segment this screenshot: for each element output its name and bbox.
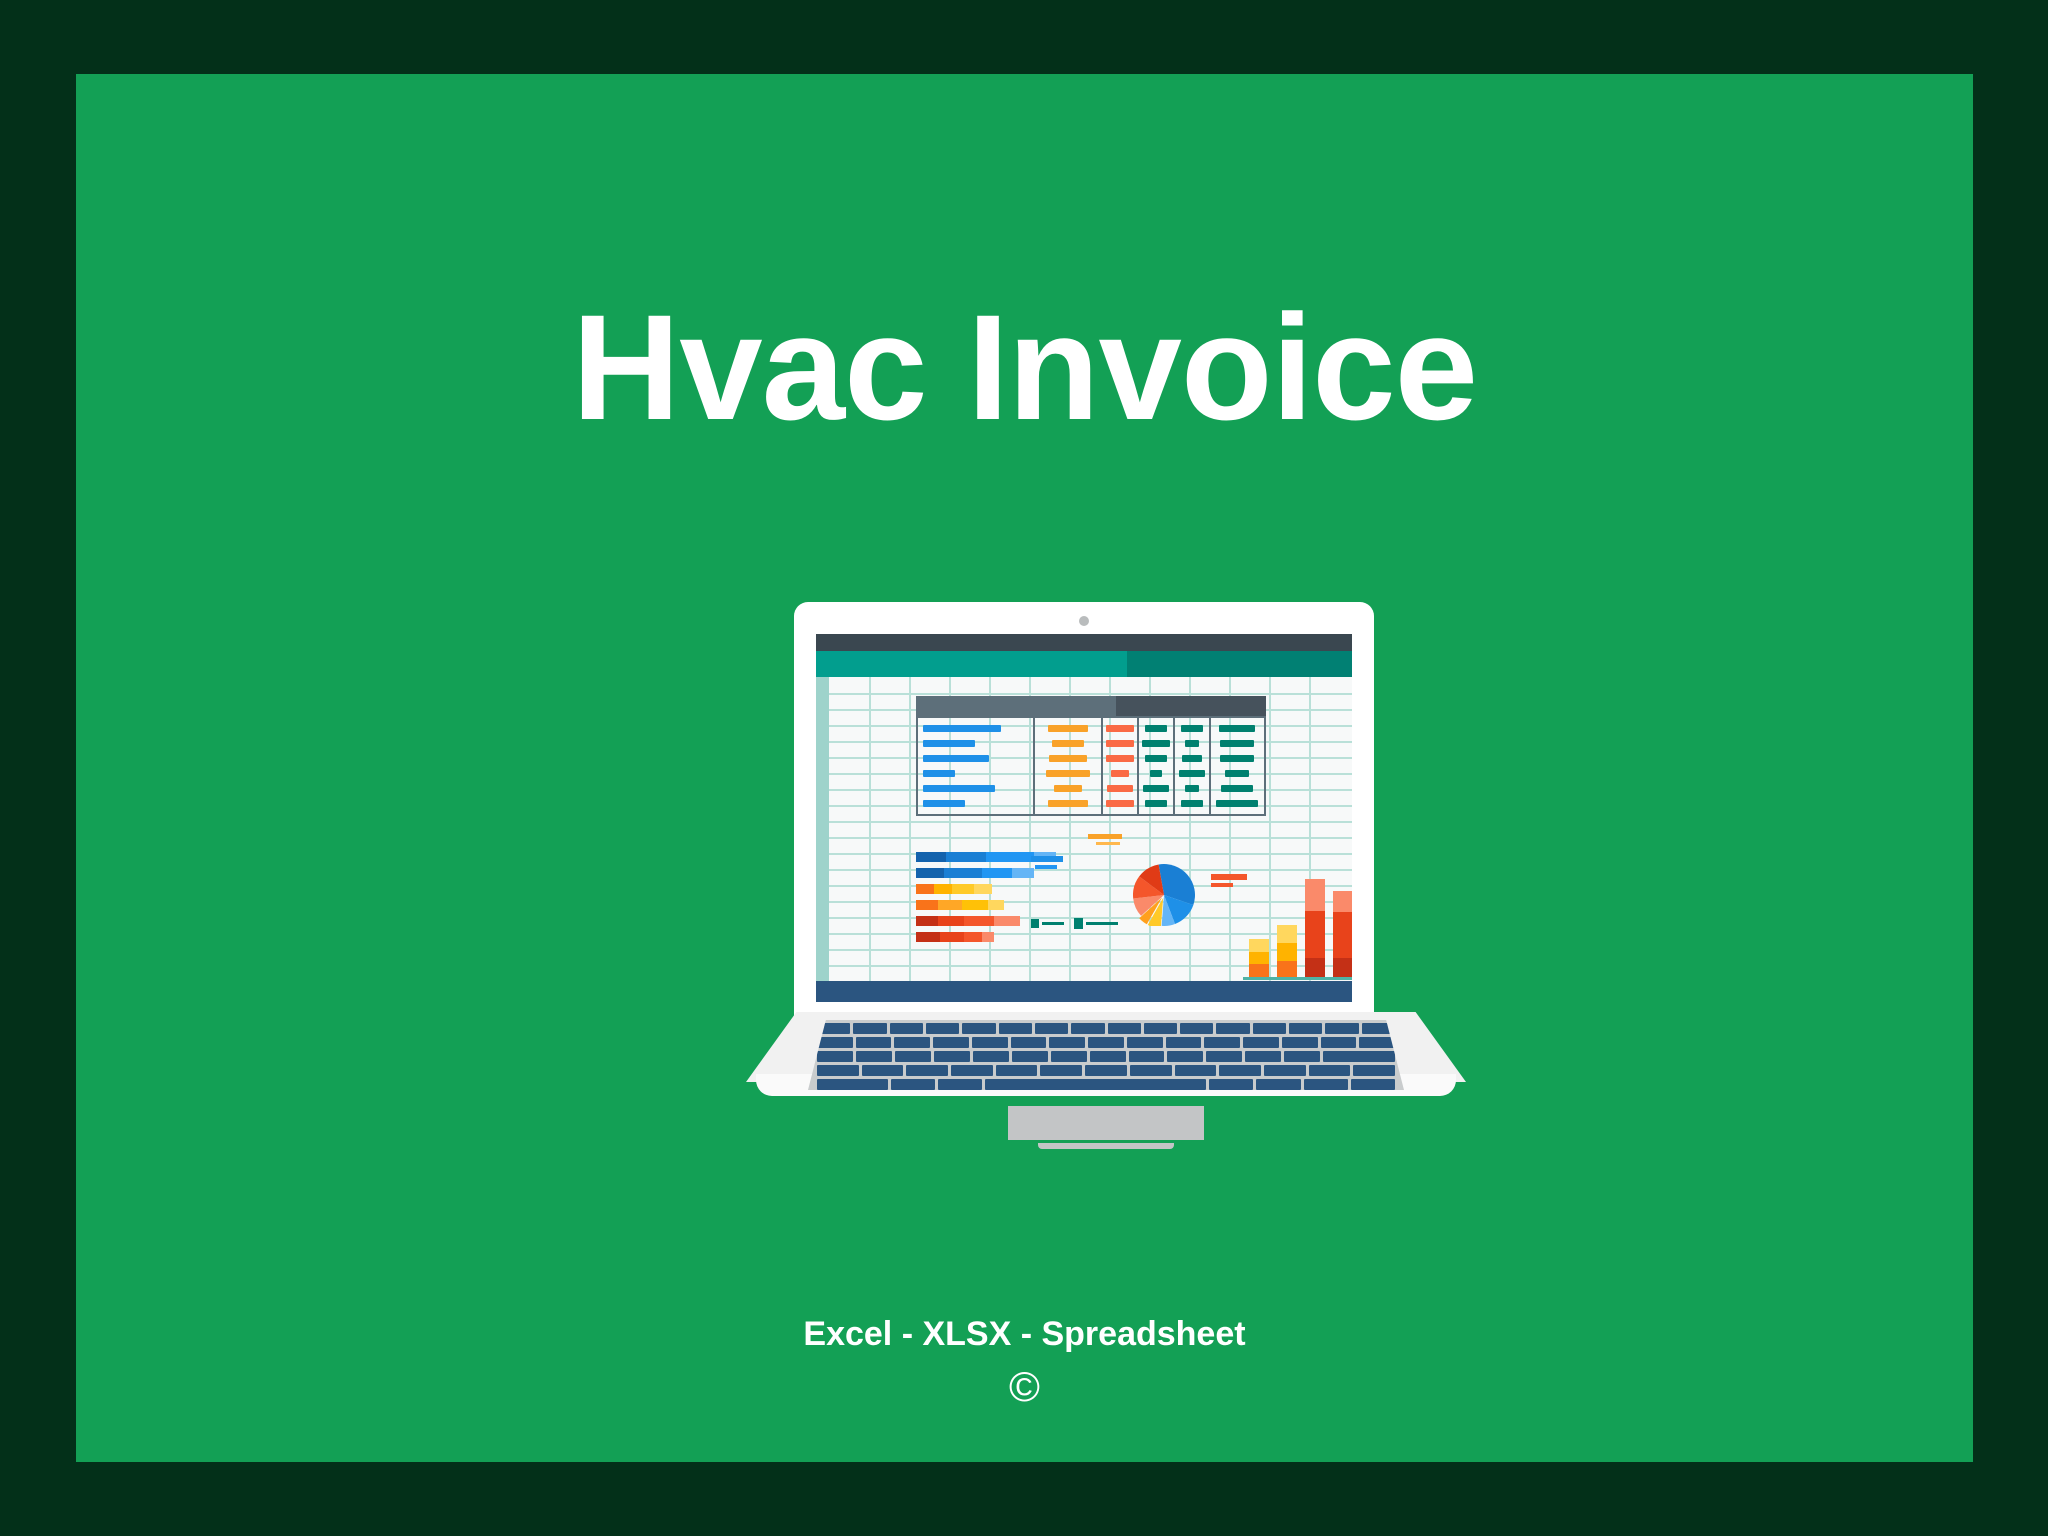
bar-segment <box>944 868 982 878</box>
keyboard-key[interactable] <box>962 1023 995 1034</box>
keyboard-key[interactable] <box>1049 1037 1085 1048</box>
column-segment <box>1277 943 1297 961</box>
gridline-vertical <box>869 677 871 981</box>
laptop-front-notch <box>1038 1143 1174 1149</box>
copyright-icon: © <box>76 1361 1973 1414</box>
keyboard-key[interactable] <box>1085 1065 1127 1076</box>
keyboard-key[interactable] <box>1180 1023 1213 1034</box>
keyboard-key[interactable] <box>1012 1051 1048 1062</box>
gridline-horizontal <box>829 821 1352 823</box>
table-cell-bar <box>1106 725 1134 732</box>
table-cell-bar <box>1150 770 1162 777</box>
footer: Excel - XLSX - Spreadsheet © <box>76 1316 1973 1414</box>
keyboard-key[interactable] <box>1071 1023 1104 1034</box>
table-column-col-red <box>1103 718 1139 814</box>
column-bar-col-2 <box>1277 925 1297 978</box>
table-cell-bar <box>923 785 995 792</box>
keyboard-key[interactable] <box>1284 1051 1320 1062</box>
column-segment <box>1333 912 1352 958</box>
column-chart <box>1243 830 1352 980</box>
table-cell-bar <box>923 740 975 747</box>
table-cell-bar <box>1143 785 1169 792</box>
keyboard-key[interactable] <box>906 1065 948 1076</box>
keyboard-key[interactable] <box>1144 1023 1177 1034</box>
keyboard-key[interactable] <box>1282 1037 1318 1048</box>
table-column-col-teal-1 <box>1139 718 1175 814</box>
horizontal-bar-red-2 <box>916 932 1066 942</box>
label-orange-top-icon <box>1088 834 1122 845</box>
table-cell-bar <box>1048 800 1088 807</box>
keyboard-key[interactable] <box>1040 1065 1082 1076</box>
column-segment <box>1305 879 1325 911</box>
bar-segment <box>938 900 962 910</box>
table-cell-bar <box>1181 725 1203 732</box>
table-cell-bar <box>1145 755 1167 762</box>
table-header-right <box>1116 696 1267 716</box>
keyboard-key[interactable] <box>938 1079 982 1090</box>
spreadsheet-ribbon-right <box>1127 651 1352 677</box>
keyboard-key[interactable] <box>862 1065 904 1076</box>
keyboard-key[interactable] <box>1130 1065 1172 1076</box>
bar-segment <box>916 868 944 878</box>
keyboard-key[interactable] <box>1245 1051 1281 1062</box>
bar-segment <box>964 932 982 942</box>
bar-segment <box>916 884 934 894</box>
keyboard-key[interactable] <box>933 1037 969 1048</box>
poster-canvas: Hvac Invoice <box>76 74 1973 1462</box>
keyboard-key[interactable] <box>1256 1079 1300 1090</box>
keyboard-row[interactable] <box>811 1051 1401 1062</box>
keyboard-key[interactable] <box>1216 1023 1249 1034</box>
bar-segment <box>946 852 986 862</box>
keyboard-key[interactable] <box>1051 1051 1087 1062</box>
table-cell-bar <box>1181 800 1203 807</box>
keyboard-key[interactable] <box>1219 1065 1261 1076</box>
keyboard-key[interactable] <box>1204 1037 1240 1048</box>
keyboard-key[interactable] <box>856 1037 892 1048</box>
keyboard-key[interactable] <box>1309 1065 1351 1076</box>
keyboard-key[interactable] <box>1264 1065 1306 1076</box>
bar-segment <box>982 868 1012 878</box>
bar-segment <box>982 932 994 942</box>
table-cell-bar <box>1111 770 1129 777</box>
keyboard-row[interactable] <box>811 1037 1401 1048</box>
table-column-col-teal-3 <box>1211 718 1264 814</box>
keyboard-key[interactable] <box>1167 1051 1203 1062</box>
column-segment <box>1305 958 1325 977</box>
table-cell-bar <box>1049 755 1087 762</box>
keyboard-key[interactable] <box>1206 1051 1242 1062</box>
column-segment <box>1249 964 1269 977</box>
keyboard-key[interactable] <box>1351 1079 1395 1090</box>
table-cell-bar <box>1220 740 1254 747</box>
column-segment <box>1277 925 1297 944</box>
table-header-left <box>916 696 1116 716</box>
keyboard-key[interactable] <box>856 1051 892 1062</box>
bar-segment <box>934 884 952 894</box>
spreadsheet-ribbon-left <box>816 651 1127 677</box>
bar-segment <box>988 900 1004 910</box>
table-cell-bar <box>1107 785 1133 792</box>
bar-segment <box>940 932 964 942</box>
column-segment <box>1277 961 1297 977</box>
keyboard-key[interactable] <box>853 1023 886 1034</box>
column-bar-col-4 <box>1333 891 1352 977</box>
bar-segment <box>964 916 994 926</box>
keyboard-key[interactable] <box>817 1037 853 1048</box>
table-cell-bar <box>1048 725 1088 732</box>
bar-segment <box>916 932 940 942</box>
bar-segment <box>994 916 1020 926</box>
keyboard-key[interactable] <box>985 1079 1206 1090</box>
table-cell-bar <box>923 770 955 777</box>
bar-segment <box>952 884 974 894</box>
keyboard-key[interactable] <box>817 1065 859 1076</box>
column-segment <box>1305 911 1325 958</box>
keyboard-row[interactable] <box>811 1023 1401 1034</box>
table-cell-bar <box>1106 800 1134 807</box>
table-cell-bar <box>1220 755 1254 762</box>
keyboard-row[interactable] <box>811 1079 1401 1090</box>
table-cell-bar <box>1145 800 1167 807</box>
bar-segment <box>1012 868 1034 878</box>
page-title: Hvac Invoice <box>76 292 1973 442</box>
column-chart-baseline <box>1243 977 1352 980</box>
horizontal-bar-yellow-1 <box>916 884 1066 894</box>
keyboard-key[interactable] <box>1359 1037 1395 1048</box>
keyboard-key[interactable] <box>1321 1037 1357 1048</box>
column-bar-col-3 <box>1305 879 1325 977</box>
table-cell-bar <box>1054 785 1082 792</box>
keyboard-key[interactable] <box>1289 1023 1322 1034</box>
keyboard-row[interactable] <box>811 1065 1401 1076</box>
laptop-illustration <box>746 602 1466 1102</box>
label-teal-1-icon <box>1031 919 1064 928</box>
table-cell-bar <box>1142 740 1170 747</box>
laptop-lid <box>794 602 1374 1020</box>
column-segment <box>1249 939 1269 952</box>
keyboard-key[interactable] <box>1035 1023 1068 1034</box>
table-column-col-blue <box>918 718 1035 814</box>
keyboard-key[interactable] <box>1243 1037 1279 1048</box>
bar-segment <box>962 900 988 910</box>
bar-segment <box>916 916 938 926</box>
keyboard-key[interactable] <box>1353 1065 1395 1076</box>
table-cell-bar <box>1182 755 1202 762</box>
gridline-vertical <box>909 677 911 981</box>
table-column-col-orange <box>1035 718 1103 814</box>
keyboard-key[interactable] <box>1011 1037 1047 1048</box>
horizontal-bar-blue-2 <box>916 868 1066 878</box>
table-cell-bar <box>923 725 1001 732</box>
table-cell-bar <box>1185 785 1199 792</box>
spreadsheet-statusbar <box>816 981 1352 1002</box>
keyboard-key[interactable] <box>934 1051 970 1062</box>
table-cell-bar <box>1225 770 1249 777</box>
keyboard-key[interactable] <box>1209 1079 1253 1090</box>
keyboard-key[interactable] <box>894 1037 930 1048</box>
spreadsheet-row-header <box>816 677 829 981</box>
table-cell-bar <box>923 755 989 762</box>
keyboard-key[interactable] <box>1108 1023 1141 1034</box>
keyboard-key[interactable] <box>1129 1051 1165 1062</box>
horizontal-bar-yellow-2 <box>916 900 1066 910</box>
keyboard-key[interactable] <box>973 1051 1009 1062</box>
table-body <box>916 716 1266 816</box>
laptop-screen <box>816 634 1352 1002</box>
label-red-right-icon <box>1211 874 1247 887</box>
table-cell-bar <box>1219 725 1255 732</box>
keyboard-key[interactable] <box>1304 1079 1348 1090</box>
bar-segment <box>938 916 964 926</box>
keyboard-key[interactable] <box>891 1079 935 1090</box>
bar-segment <box>916 852 946 862</box>
keyboard-key[interactable] <box>972 1037 1008 1048</box>
keyboard-key[interactable] <box>1175 1065 1217 1076</box>
keyboard-key[interactable] <box>926 1023 959 1034</box>
keyboard-key[interactable] <box>999 1023 1032 1034</box>
table-cell-bar <box>1052 740 1084 747</box>
keyboard-key[interactable] <box>1253 1023 1286 1034</box>
spreadsheet-menubar <box>816 634 1352 651</box>
label-teal-2-icon <box>1074 918 1118 929</box>
keyboard-key[interactable] <box>1090 1051 1126 1062</box>
table-cell-bar <box>1185 740 1199 747</box>
table-cell-bar <box>1145 725 1167 732</box>
footer-format-label: Excel - XLSX - Spreadsheet <box>76 1316 1973 1353</box>
pie-chart <box>1133 864 1195 926</box>
column-bar-col-1 <box>1249 939 1269 977</box>
keyboard-key[interactable] <box>890 1023 923 1034</box>
keyboard-key[interactable] <box>1325 1023 1358 1034</box>
table-column-col-teal-2 <box>1175 718 1211 814</box>
bar-segment <box>986 852 1034 862</box>
column-segment <box>1333 958 1352 977</box>
keyboard-key[interactable] <box>1323 1051 1395 1062</box>
table-cell-bar <box>1106 755 1134 762</box>
keyboard-key[interactable] <box>1088 1037 1124 1048</box>
keyboard-key[interactable] <box>817 1051 853 1062</box>
table-cell-bar <box>1046 770 1090 777</box>
laptop-keyboard[interactable] <box>808 1020 1404 1090</box>
bar-segment <box>916 900 938 910</box>
spreadsheet-data-table <box>916 696 1266 816</box>
keyboard-key[interactable] <box>996 1065 1038 1076</box>
table-cell-bar <box>1106 740 1134 747</box>
label-blue-left-icon <box>1031 856 1063 869</box>
gridline-horizontal <box>829 693 1352 695</box>
keyboard-key[interactable] <box>1166 1037 1202 1048</box>
table-cell-bar <box>923 800 965 807</box>
webcam-icon <box>1079 616 1089 626</box>
table-cell-bar <box>1221 785 1253 792</box>
keyboard-key[interactable] <box>951 1065 993 1076</box>
keyboard-key[interactable] <box>817 1079 888 1090</box>
laptop-trackpad[interactable] <box>1008 1106 1204 1140</box>
column-segment <box>1333 891 1352 912</box>
table-cell-bar <box>1179 770 1205 777</box>
keyboard-key[interactable] <box>1127 1037 1163 1048</box>
bar-segment <box>974 884 992 894</box>
keyboard-key[interactable] <box>895 1051 931 1062</box>
table-cell-bar <box>1216 800 1258 807</box>
column-segment <box>1249 952 1269 965</box>
